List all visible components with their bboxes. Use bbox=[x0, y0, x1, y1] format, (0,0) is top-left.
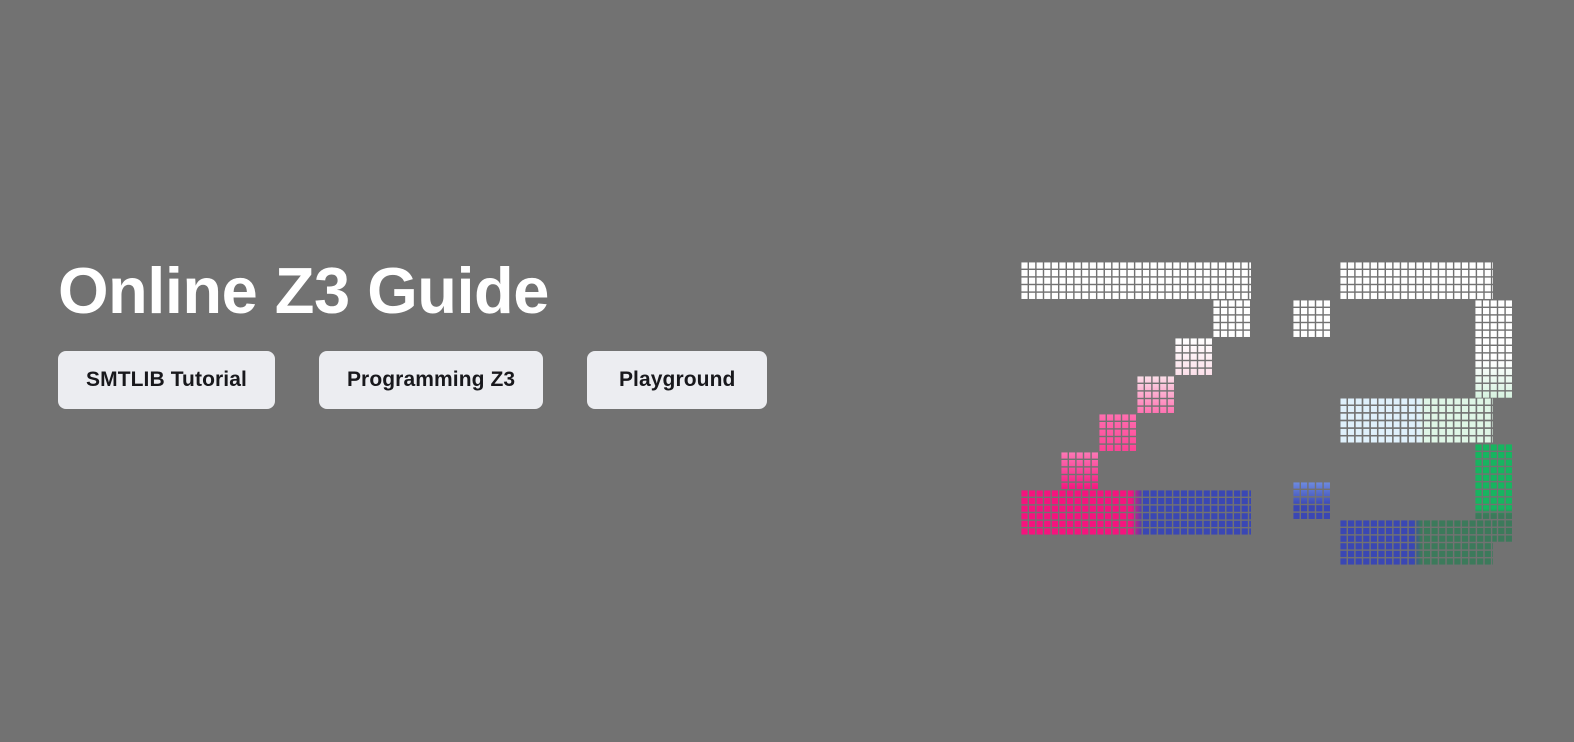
z-step-3-gridlines bbox=[1099, 414, 1137, 452]
z3-pixel-logo bbox=[1015, 255, 1525, 590]
three-upper-right-gridlines bbox=[1475, 300, 1513, 398]
three-low-left-stub bbox=[1293, 482, 1331, 520]
three-middle-tint bbox=[1340, 398, 1493, 444]
hero-copy: Online Z3 Guide SMTLIB Tutorial Programm… bbox=[58, 258, 958, 409]
programming-z3-button[interactable]: Programming Z3 bbox=[319, 351, 543, 409]
hero-section: Online Z3 Guide SMTLIB Tutorial Programm… bbox=[0, 0, 1574, 742]
z-step-2 bbox=[1137, 376, 1175, 414]
z-step-4-gridlines bbox=[1061, 452, 1099, 490]
three-upper-right bbox=[1475, 300, 1513, 398]
z-top-bar-gridlines bbox=[1021, 262, 1251, 300]
hero-button-group: SMTLIB Tutorial Programming Z3 Playgroun… bbox=[58, 351, 958, 409]
three-bottom-bar-gridlines bbox=[1340, 520, 1493, 565]
three-top-left-stub-gridlines bbox=[1293, 300, 1331, 338]
z-top-bar bbox=[1021, 262, 1251, 300]
z-step-3 bbox=[1099, 414, 1137, 452]
three-top-left-stub bbox=[1293, 300, 1331, 338]
z-bottom-bar bbox=[1021, 490, 1251, 535]
z-top-right bbox=[1213, 300, 1251, 338]
z-step-4 bbox=[1061, 452, 1099, 490]
page-title: Online Z3 Guide bbox=[58, 258, 958, 323]
three-middle-tint-gridlines bbox=[1340, 398, 1493, 444]
z-step-2-gridlines bbox=[1137, 376, 1175, 414]
three-top-bar-gridlines bbox=[1340, 262, 1493, 300]
three-low-left-stub-gridlines bbox=[1293, 482, 1331, 520]
z-bottom-bar-gridlines bbox=[1021, 490, 1251, 535]
z-step-1-gridlines bbox=[1175, 338, 1213, 376]
z-step-1 bbox=[1175, 338, 1213, 376]
logo-glyph-z bbox=[1015, 255, 1260, 545]
playground-button[interactable]: Playground bbox=[587, 351, 767, 409]
three-bottom-bar bbox=[1340, 520, 1493, 565]
three-top-bar bbox=[1340, 262, 1493, 300]
logo-glyph-3 bbox=[1283, 255, 1523, 575]
z-top-right-gridlines bbox=[1213, 300, 1251, 338]
smtlib-tutorial-button[interactable]: SMTLIB Tutorial bbox=[58, 351, 275, 409]
